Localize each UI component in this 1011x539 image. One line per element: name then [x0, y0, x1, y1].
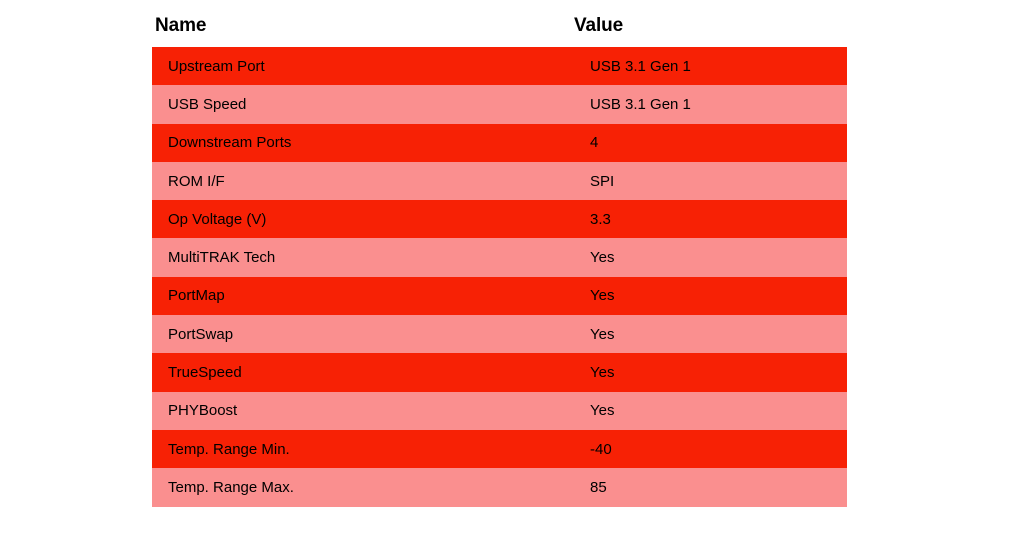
table-body: Upstream PortUSB 3.1 Gen 1USB SpeedUSB 3… — [152, 47, 847, 507]
cell-value: Yes — [571, 326, 847, 343]
table-row: Downstream Ports4 — [152, 124, 847, 162]
table-row: USB SpeedUSB 3.1 Gen 1 — [152, 85, 847, 123]
table-row: Temp. Range Min.-40 — [152, 430, 847, 468]
column-header-name: Name — [152, 15, 571, 37]
table-header-row: Name Value — [152, 0, 847, 47]
cell-name: Temp. Range Max. — [152, 479, 571, 496]
cell-name: USB Speed — [152, 96, 571, 113]
table-row: PortSwapYes — [152, 315, 847, 353]
cell-value: Yes — [571, 249, 847, 266]
table-row: TrueSpeedYes — [152, 353, 847, 391]
cell-value: 4 — [571, 134, 847, 151]
table-row: MultiTRAK TechYes — [152, 238, 847, 276]
table-row: PHYBoostYes — [152, 392, 847, 430]
cell-name: PortSwap — [152, 326, 571, 343]
cell-value: 3.3 — [571, 211, 847, 228]
table-row: PortMapYes — [152, 277, 847, 315]
cell-name: Upstream Port — [152, 58, 571, 75]
specification-table: Name Value Upstream PortUSB 3.1 Gen 1USB… — [152, 0, 847, 507]
cell-value: Yes — [571, 364, 847, 381]
cell-name: MultiTRAK Tech — [152, 249, 571, 266]
cell-value: SPI — [571, 173, 847, 190]
table-row: Upstream PortUSB 3.1 Gen 1 — [152, 47, 847, 85]
cell-value: Yes — [571, 287, 847, 304]
cell-value: 85 — [571, 479, 847, 496]
cell-name: ROM I/F — [152, 173, 571, 190]
cell-name: Op Voltage (V) — [152, 211, 571, 228]
cell-value: -40 — [571, 441, 847, 458]
table-row: ROM I/FSPI — [152, 162, 847, 200]
cell-value: USB 3.1 Gen 1 — [571, 96, 847, 113]
table-row: Temp. Range Max.85 — [152, 468, 847, 506]
cell-name: TrueSpeed — [152, 364, 571, 381]
cell-name: PortMap — [152, 287, 571, 304]
cell-name: Temp. Range Min. — [152, 441, 571, 458]
cell-value: Yes — [571, 402, 847, 419]
cell-value: USB 3.1 Gen 1 — [571, 58, 847, 75]
cell-name: PHYBoost — [152, 402, 571, 419]
table-row: Op Voltage (V)3.3 — [152, 200, 847, 238]
cell-name: Downstream Ports — [152, 134, 571, 151]
column-header-value: Value — [571, 15, 847, 37]
